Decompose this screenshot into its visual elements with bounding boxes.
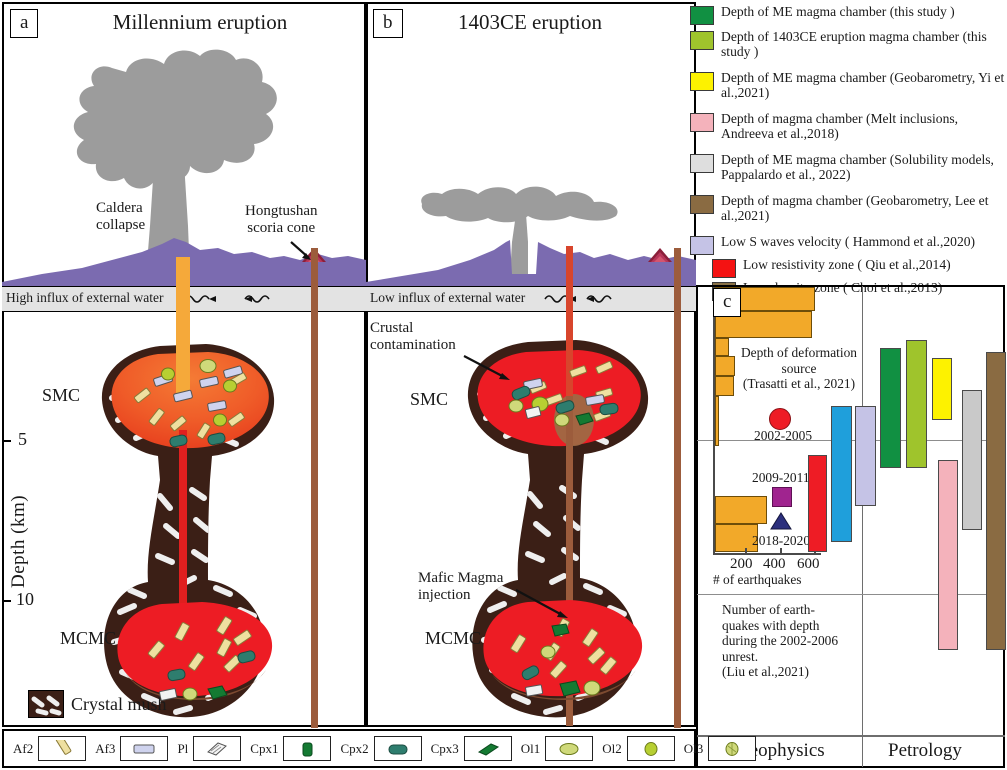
legend-item-5[interactable]: Depth of magma chamber (Geobarometry, Le… [690,193,1006,223]
legend-swatch-low-s-velocity [690,236,714,255]
crustal-contamination-arrow [462,352,520,384]
legend-label-6: Low S waves velocity ( Hammond et al.,20… [721,234,975,249]
histogram-x-axis [713,553,821,555]
histogram-xtick-label-200: 200 [730,556,753,573]
mineral-legend-bar: Af2 Af3 Pl Cpx1 [2,729,696,768]
legend-swatch-melt-inclusions [690,113,714,132]
cone-arrow-a [289,240,319,266]
mineral-label-pl: Pl [177,741,188,757]
legend-item-4[interactable]: Depth of ME magma chamber (Solubility mo… [690,152,1006,182]
legend-item-3[interactable]: Depth of magma chamber (Melt inclusions,… [690,111,1006,141]
legend-panel: Depth of ME magma chamber (this study ) … [690,2,1006,285]
histogram-bar-5 [715,396,719,446]
legend-swatch-1403ce-chamber [690,31,714,50]
cpx1-crystal-icon [283,736,331,761]
hongtushan-cone-label: Hongtushan scoria cone [245,203,318,237]
mineral-item-cpx3[interactable]: Cpx3 [431,736,512,761]
crustal-contamination-label: Crustal contamination [370,320,456,354]
depth-tick-5 [2,440,11,442]
water-arrows-a [183,290,293,308]
cpx2-crystal-icon [374,736,422,761]
panel-c-tag: c [713,288,741,317]
legend-item-1[interactable]: Depth of 1403CE eruption magma chamber (… [690,29,1006,59]
deformation-source-caption: Depth of deformation source (Trasatti et… [735,345,863,392]
depth-bar-geobarometry-yi[interactable] [932,358,952,420]
legend-swatch-low-resistivity [712,259,736,278]
legend-swatch-geobarometry-yi [690,72,714,91]
caldera-collapse-label: Caldera collapse [96,200,145,234]
histogram-xtick-400 [780,548,782,555]
depth-bar-seismic-blue[interactable] [831,406,852,542]
panel-c-depth-line-10km [697,594,1005,595]
crystal-mush-swatch [28,690,64,718]
legend-label-4: Depth of ME magma chamber (Solubility mo… [721,152,1006,182]
depth-tick-label-5: 5 [18,429,27,450]
legend-label-5: Depth of magma chamber (Geobarometry, Le… [721,193,1006,223]
depth-tick-10 [2,600,11,602]
mineral-item-cpx1[interactable]: Cpx1 [250,736,331,761]
legend-swatch-solubility-models [690,154,714,173]
petrology-footer-label: Petrology [888,740,962,762]
histogram-xtick-label-400: 400 [763,556,786,573]
mineral-item-pl[interactable]: Pl [177,736,241,761]
mineral-item-af3[interactable]: Af3 [95,736,168,761]
mineral-label-cpx3: Cpx3 [431,741,459,757]
depth-axis-title: Depth (km) [8,462,30,588]
depth-bar-me-chamber-this-study[interactable] [880,348,901,468]
figure-root: a Millennium eruption High influx of ext… [0,0,1007,770]
legend-swatch-me-chamber [690,6,714,25]
deformation-marker-label-0: 2002-2005 [754,428,812,444]
mineral-label-ol2: Ol2 [602,741,622,757]
deformation-marker-square [772,487,792,507]
af2-crystal-icon [38,736,86,761]
panel-b-title: 1403CE eruption [400,10,660,35]
legend-label-7: Low resistivity zone ( Qiu et al.,2014) [743,257,951,272]
mineral-label-cpx1: Cpx1 [250,741,278,757]
mineral-label-cpx2: Cpx2 [340,741,368,757]
legend-item-6[interactable]: Low S waves velocity ( Hammond et al.,20… [690,234,1006,255]
water-label-a: High influx of external water [6,290,163,306]
smc-label-b: SMC [410,389,448,410]
pl-crystal-icon [193,736,241,761]
mineral-item-ol1[interactable]: Ol1 [521,736,594,761]
hongtushan-conduit-b [674,248,681,728]
deformation-marker-triangle [770,512,792,530]
legend-label-0: Depth of ME magma chamber (this study ) [721,4,955,19]
histogram-xtick-200 [745,548,747,555]
depth-bar-1403ce-chamber-this-study[interactable] [906,340,927,468]
volcanic-edifice-b [366,232,696,286]
legend-item-2[interactable]: Depth of ME magma chamber (Geobarometry,… [690,70,1006,100]
mcmc-label-b: MCMC [425,628,481,649]
panel-a-tag: a [10,9,38,38]
mafic-injection-arrow [514,588,578,624]
deformation-marker-circle [769,408,791,430]
water-arrows-b [543,290,653,308]
legend-item-0[interactable]: Depth of ME magma chamber (this study ) [690,4,1006,25]
mcmc-label-a: MCMC [60,628,116,649]
ol2-crystal-icon [627,736,675,761]
depth-bar-solubility-models[interactable] [962,390,982,530]
mineral-label-af3: Af3 [95,741,115,757]
mineral-item-cpx2[interactable]: Cpx2 [340,736,421,761]
mineral-item-ol2[interactable]: Ol2 [602,736,675,761]
histogram-bar-4 [715,376,734,396]
histogram-bar-3 [715,356,735,376]
histogram-axis-title: # of earthquakes [713,572,802,588]
histogram-bar-6 [715,496,767,524]
cpx3-crystal-icon [464,736,512,761]
panel-a-title: Millennium eruption [70,10,330,35]
panel-c-note: Number of earth- quakes with depth durin… [722,602,854,680]
depth-tick-label-10: 10 [16,589,34,610]
deformation-marker-label-2: 2018-2020 [752,533,810,549]
ol1-crystal-icon [545,736,593,761]
mafic-injection-label: Mafic Magma injection [418,570,503,604]
hongtushan-conduit-a [311,248,318,728]
mineral-item-af2[interactable]: Af2 [13,736,86,761]
legend-swatch-geobarometry-lee [690,195,714,214]
af3-crystal-icon [120,736,168,761]
legend-label-3: Depth of magma chamber (Melt inclusions,… [721,111,1006,141]
legend-label-2: Depth of ME magma chamber (Geobarometry,… [721,70,1006,100]
legend-item-7[interactable]: Low resistivity zone ( Qiu et al.,2014) [712,257,1006,278]
depth-bar-melt-inclusions[interactable] [938,460,958,650]
crystal-mush-label: Crystal mush [71,694,167,715]
depth-bar-low-resistivity[interactable] [808,455,827,552]
depth-bar-low-s-velocity[interactable] [855,406,876,506]
legend-label-1: Depth of 1403CE eruption magma chamber (… [721,29,1006,59]
water-label-b: Low influx of external water [370,290,525,306]
ol3-crystal-icon [708,736,756,761]
depth-bar-geobarometry-lee[interactable] [986,352,1006,650]
panel-b-tag: b [373,9,403,38]
smc-label-a: SMC [42,385,80,406]
smc-crystals-a [104,348,278,460]
mineral-label-ol1: Ol1 [521,741,541,757]
mineral-item-ol3[interactable]: Ol3 [684,736,757,761]
histogram-bar-2 [715,338,729,356]
deformation-marker-label-1: 2009-2011 [752,470,810,486]
crystal-mush-legend: Crystal mush [28,690,167,718]
mineral-label-ol3: Ol3 [684,741,704,757]
histogram-y-axis [713,287,715,555]
mineral-label-af2: Af2 [13,741,33,757]
histogram-xtick-label-600: 600 [797,556,820,573]
